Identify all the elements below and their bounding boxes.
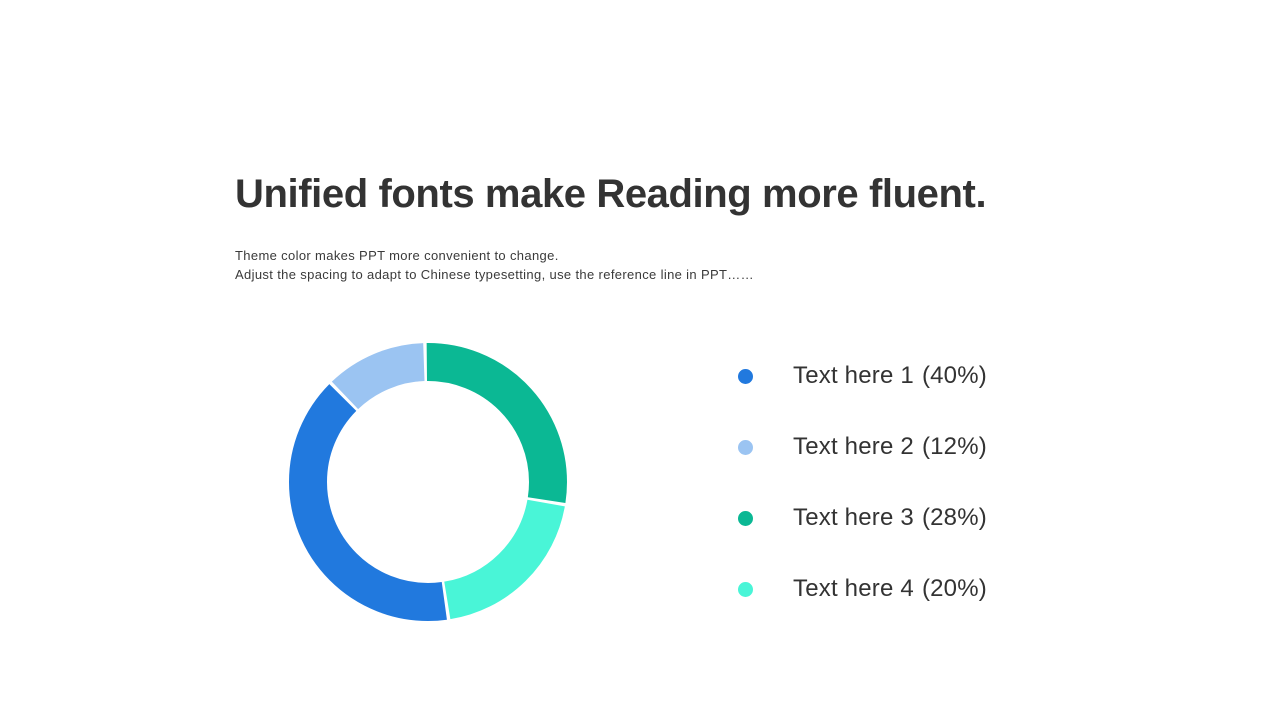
legend-label-text-3: Text here 3 (793, 504, 914, 531)
legend-item-1[interactable]: Text here 1(40%) (738, 348, 1068, 404)
legend-label-text-4: Text here 4 (793, 575, 914, 602)
slide-subtitle: Theme color makes PPT more convenient to… (235, 218, 1135, 284)
legend-dot-icon-2 (738, 440, 753, 455)
heading-block: Unified fonts make Reading more fluent. … (235, 170, 1135, 284)
legend-item-4[interactable]: Text here 4(20%) (738, 561, 1068, 617)
legend-dot-icon-3 (738, 511, 753, 526)
legend-label-3: Text here 3(28%) (793, 504, 987, 532)
donut-slice-group (308, 362, 548, 602)
subtitle-line-2: Adjust the spacing to adapt to Chinese t… (235, 265, 1135, 284)
legend-dot-icon-1 (738, 369, 753, 384)
legend-label-text-2: Text here 2 (793, 433, 914, 460)
slide-canvas: Unified fonts make Reading more fluent. … (0, 0, 1280, 720)
legend-percent-4: (20%) (922, 575, 987, 602)
legend-label-4: Text here 4(20%) (793, 575, 987, 603)
legend-label-2: Text here 2(12%) (793, 433, 987, 461)
donut-chart-svg (288, 342, 568, 622)
legend-item-3[interactable]: Text here 3(28%) (738, 490, 1068, 546)
legend-label-text-1: Text here 1 (793, 362, 914, 389)
legend-percent-1: (40%) (922, 362, 987, 389)
subtitle-line-1: Theme color makes PPT more convenient to… (235, 246, 1135, 265)
legend-percent-2: (12%) (922, 433, 987, 460)
legend-percent-3: (28%) (922, 504, 987, 531)
donut-chart (288, 342, 568, 622)
legend-item-2[interactable]: Text here 2(12%) (738, 419, 1068, 475)
legend-label-1: Text here 1(40%) (793, 362, 987, 390)
chart-legend: Text here 1(40%) Text here 2(12%) Text h… (738, 348, 1068, 617)
page-title: Unified fonts make Reading more fluent. (235, 170, 1135, 218)
legend-dot-icon-4 (738, 582, 753, 597)
